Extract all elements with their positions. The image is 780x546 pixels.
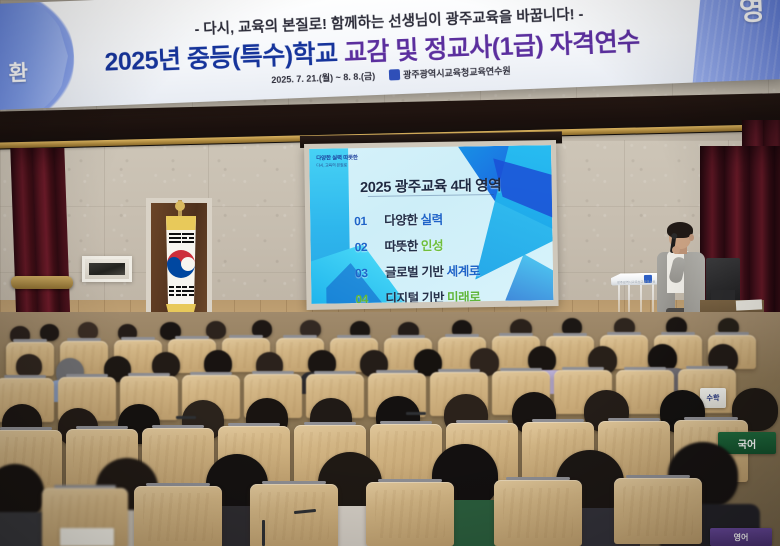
pen (406, 412, 426, 415)
slide-item-text-plain: 글로벌 기반 (385, 265, 447, 280)
auditorium-seat (134, 486, 222, 546)
pen (176, 416, 196, 419)
seat-sign-label: 국어 (738, 436, 756, 451)
wall-window (82, 256, 132, 282)
curtain-tieback (11, 276, 73, 289)
slide-item-text-plain: 따뜻한 (385, 239, 422, 254)
slide-item: 01다양한 실력 (354, 207, 534, 229)
slide-item-text-plain: 다양한 (384, 213, 421, 228)
seat-sign-english: 영어 (710, 528, 772, 546)
slide-logo-line2: 다시, 교육의 본질로 (316, 163, 358, 168)
seat-sign-label: 영어 (734, 532, 749, 543)
slide-item-text: 따뜻한 인성 (384, 235, 443, 255)
notebook (60, 528, 114, 546)
slide-item: 04디지털 기반 미래로 (355, 285, 535, 304)
slide-item-highlight: 미래로 (447, 290, 481, 304)
pen (262, 520, 265, 546)
papers-on-cart (736, 299, 762, 310)
slide-item-text: 다양한 실력 (384, 209, 443, 229)
audience-area: 수학 국어 (0, 312, 780, 546)
seat-sign-label: 수학 (707, 393, 720, 403)
av-monitor (706, 258, 740, 302)
slide-item-text-plain: 디지털 기반 (385, 291, 447, 304)
slide-item: 03글로벌 기반 세계로 (355, 259, 535, 281)
banner-organization: 광주광역시교육청교육연수원 (403, 64, 511, 81)
org-logo-icon (389, 69, 400, 80)
slide-item-number: 02 (355, 240, 372, 254)
auditorium-seat (366, 482, 454, 546)
slide-item-highlight: 세계로 (447, 264, 481, 279)
slide-item-highlight: 인성 (421, 239, 443, 253)
slide-item-list: 01다양한 실력02따뜻한 인성03글로벌 기반 세계로04디지털 기반 미래로 (354, 207, 536, 304)
slide-item-highlight: 실력 (420, 213, 442, 227)
slide-item: 02따뜻한 인성 (354, 233, 534, 255)
lecture-hall-photo: 환 영 - 다시, 교육의 본질로! 함께하는 선생님이 광주교육을 바꿉니다!… (0, 0, 780, 546)
lectern-label: 광주광역시교육청교육연수원 (617, 280, 656, 285)
presenter-hand (672, 246, 680, 254)
auditorium-seat (614, 478, 702, 544)
presenter-ear (689, 234, 694, 241)
slide-item-number: 04 (355, 292, 372, 304)
presentation-slide: 다양한 실력 따뜻한 다시, 교육의 본질로 2025 광주교육 4대 영역 0… (309, 145, 553, 304)
slide-item-number: 01 (354, 214, 371, 228)
slide-logo: 다양한 실력 따뜻한 다시, 교육의 본질로 (316, 156, 358, 168)
auditorium-seat (494, 480, 582, 546)
slide-item-number: 03 (355, 266, 372, 280)
banner-dates: 2025. 7. 21.(월) ~ 8. 8.(금) (271, 69, 375, 86)
projection-screen: 다양한 실력 따뜻한 다시, 교육의 본질로 2025 광주교육 4대 영역 0… (304, 140, 559, 310)
slide-item-text: 디지털 기반 미래로 (385, 286, 480, 304)
banner-welcome-char-right: 영 (738, 0, 765, 29)
attendee-head (206, 321, 226, 339)
slide-item-text: 글로벌 기반 세계로 (385, 260, 480, 280)
